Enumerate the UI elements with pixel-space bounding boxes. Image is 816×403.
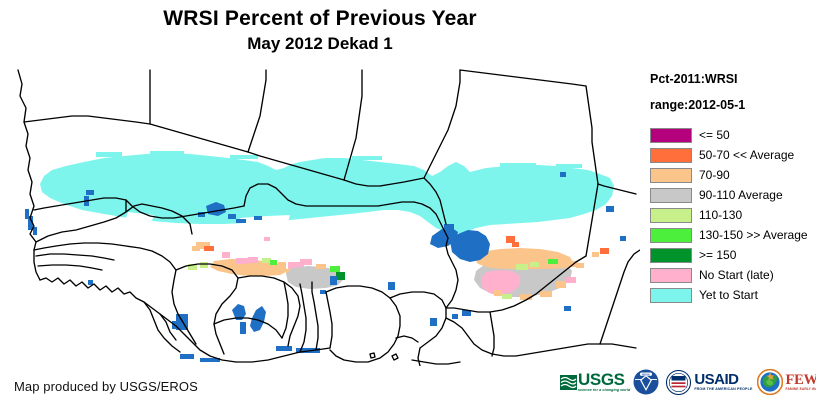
legend-item-lte-50: <= 50 <box>650 126 816 145</box>
legend-swatch-no-start <box>650 268 692 283</box>
legend-label-gte-150: >= 150 <box>699 248 736 263</box>
map-credit: Map produced by USGS/EROS <box>14 379 198 394</box>
legend-label-50-70: 50-70 << Average <box>699 148 794 163</box>
noaa-logo: NOAA <box>633 365 659 399</box>
legend-item-no-start: No Start (late) <box>650 266 816 285</box>
map-page: WRSI Percent of Previous Year May 2012 D… <box>0 0 816 403</box>
legend-label-110-130: 110-130 <box>699 208 742 223</box>
fews-net-logo: FEWS NET FAMINE EARLY WARNING SYSTEMS NE… <box>757 365 816 399</box>
usgs-wave-icon <box>560 375 577 390</box>
legend-swatch-gte-150 <box>650 248 692 263</box>
legend-swatch-110-130 <box>650 208 692 223</box>
west-africa-map[interactable] <box>0 66 640 366</box>
legend-item-gte-150: >= 150 <box>650 246 816 265</box>
legend-swatch-yet-to-start <box>650 288 692 303</box>
legend-label-no-start: No Start (late) <box>699 268 774 283</box>
noaa-seal-icon: NOAA <box>633 369 659 395</box>
legend-item-90-110: 90-110 Average <box>650 186 816 205</box>
legend-label-130-150: 130-150 >> Average <box>699 228 808 243</box>
legend-label-90-110: 90-110 Average <box>699 188 783 203</box>
usaid-logo: USAID FROM THE AMERICAN PEOPLE <box>666 365 752 399</box>
legend-title: Pct-2011:WRSI <box>650 72 816 87</box>
usaid-seal-icon <box>666 370 691 395</box>
legend-swatch-50-70 <box>650 148 692 163</box>
usaid-wordmark: USAID <box>694 373 752 387</box>
legend-item-yet-to-start: Yet to Start <box>650 286 816 305</box>
svg-text:NOAA: NOAA <box>643 372 651 376</box>
agency-logos: USGS science for a changing world NOAA <box>560 364 810 400</box>
usgs-logo: USGS science for a changing world <box>560 365 630 399</box>
legend-swatch-90-110 <box>650 188 692 203</box>
usgs-wordmark: USGS <box>578 372 630 388</box>
page-subtitle: May 2012 Dekad 1 <box>0 33 640 55</box>
legend-item-110-130: 110-130 <box>650 206 816 225</box>
legend-item-50-70: 50-70 << Average <box>650 146 816 165</box>
legend-swatch-130-150 <box>650 228 692 243</box>
fews-tagline: FAMINE EARLY WARNING SYSTEMS NETWORK <box>786 387 816 392</box>
legend-swatch-70-90 <box>650 168 692 183</box>
fews-wordmark: FEWS NET <box>786 373 816 387</box>
legend-item-130-150: 130-150 >> Average <box>650 226 816 245</box>
title-block: WRSI Percent of Previous Year May 2012 D… <box>0 6 640 55</box>
legend-label-70-90: 70-90 <box>699 168 730 183</box>
legend-label-yet-to-start: Yet to Start <box>699 288 758 303</box>
usgs-tagline: science for a changing world <box>578 388 630 393</box>
fews-globe-icon <box>757 369 783 395</box>
legend-panel: Pct-2011:WRSI range:2012-05-1 <= 50 50-7… <box>650 72 816 306</box>
legend-items: <= 50 50-70 << Average 70-90 90-110 Aver… <box>650 126 816 305</box>
page-title: WRSI Percent of Previous Year <box>0 6 640 31</box>
legend-range: range:2012-05-1 <box>650 98 816 113</box>
usaid-tagline: FROM THE AMERICAN PEOPLE <box>694 387 752 392</box>
legend-label-lte-50: <= 50 <box>699 128 730 143</box>
map-panel[interactable] <box>0 66 640 366</box>
legend-item-70-90: 70-90 <box>650 166 816 185</box>
legend-swatch-lte-50 <box>650 128 692 143</box>
